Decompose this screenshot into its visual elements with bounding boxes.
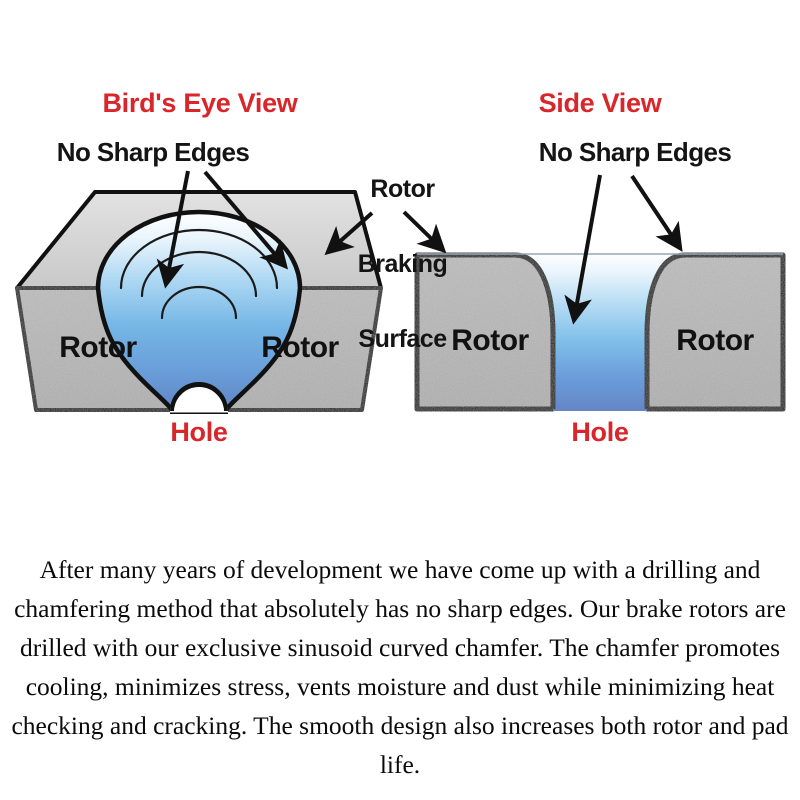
- braking-surface-line-2: Braking: [330, 252, 475, 277]
- diagram-canvas: Bird's Eye View No Sharp Edges Rotor Bra…: [0, 0, 800, 800]
- arrow-no-sharp-edges-right: [632, 176, 680, 248]
- left-view-hole-label: Hole: [139, 419, 259, 447]
- right-view-no-sharp-edges-label: No Sharp Edges: [500, 139, 770, 166]
- right-view-hole-label: Hole: [540, 419, 660, 447]
- left-view-rotor-label-right: Rotor: [235, 333, 365, 364]
- description-paragraph: After many years of development we have …: [8, 550, 792, 784]
- right-view-rotor-label-right: Rotor: [650, 326, 780, 357]
- left-view-rotor-label-left: Rotor: [33, 333, 163, 364]
- birds-eye-view-block: [17, 171, 381, 412]
- left-view-title: Bird's Eye View: [60, 90, 340, 118]
- braking-surface-line-1: Rotor: [330, 177, 475, 202]
- right-view-title: Side View: [480, 90, 720, 118]
- left-view-no-sharp-edges-label: No Sharp Edges: [18, 139, 288, 166]
- right-view-rotor-label-left: Rotor: [425, 326, 555, 357]
